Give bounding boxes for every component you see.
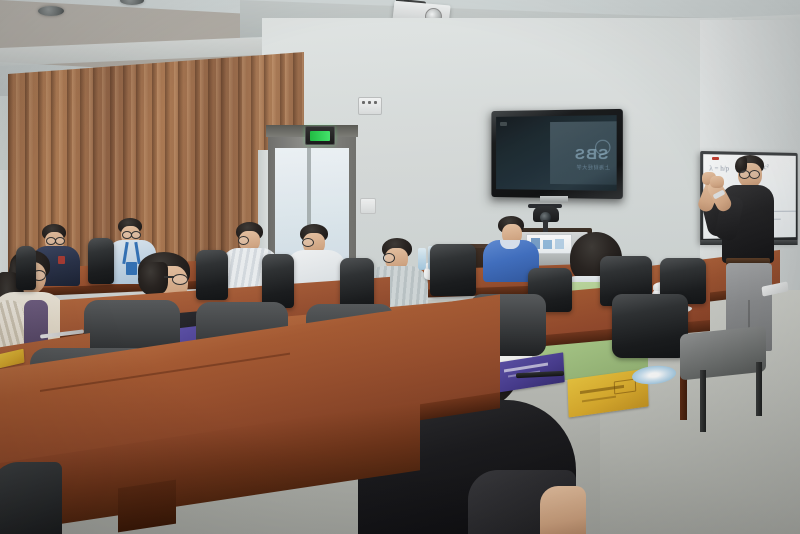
tv-brand-badge	[500, 122, 507, 126]
reflected-logo-subtext: 上海财经大学	[576, 164, 610, 171]
chair[interactable]	[16, 246, 36, 290]
whiteboard-sketch-stroke	[774, 211, 796, 212]
whiteboard-marker-icon[interactable]	[712, 157, 719, 160]
man-stripe-1-glasses-icon	[302, 238, 314, 247]
chair-leg	[756, 362, 762, 416]
water-bottle[interactable]	[418, 248, 426, 270]
man-navy-logo-icon	[58, 256, 65, 264]
light-switch[interactable]	[360, 198, 376, 214]
exit-sign-glow	[310, 131, 330, 141]
camera-stem	[543, 220, 548, 232]
wall-control-panel[interactable]	[358, 97, 382, 115]
chair[interactable]	[612, 294, 688, 358]
exit-sign	[305, 126, 335, 145]
chair-leg	[700, 370, 706, 432]
man-stripe-3-glasses-icon	[383, 253, 395, 263]
man-stripe-2-glasses-icon	[238, 236, 249, 245]
man-pink-glasses-icon	[172, 274, 188, 285]
downlight-icon	[38, 6, 64, 16]
chair[interactable]	[262, 254, 294, 308]
chair[interactable]	[0, 462, 62, 534]
chair[interactable]	[88, 238, 114, 284]
chair[interactable]	[196, 250, 228, 300]
man-lanyard-badge	[126, 262, 137, 275]
reflected-logo-text: SBS	[574, 146, 608, 163]
tv-mount-bracket	[540, 196, 568, 202]
chair-seat	[680, 325, 766, 380]
presenter-hand-right	[710, 176, 724, 188]
chair[interactable]	[430, 244, 476, 296]
television-screen[interactable]: SBS 上海财经大学	[496, 115, 617, 191]
presenter-head	[735, 155, 765, 189]
curtain-fold	[80, 52, 85, 287]
conference-room-photo: SBS 上海财经大学 λ = h/pE = mc²∫ f(x)dxσ(t)	[0, 0, 800, 534]
table-cable-port	[118, 480, 176, 533]
man-black-tee-arm	[540, 486, 586, 534]
